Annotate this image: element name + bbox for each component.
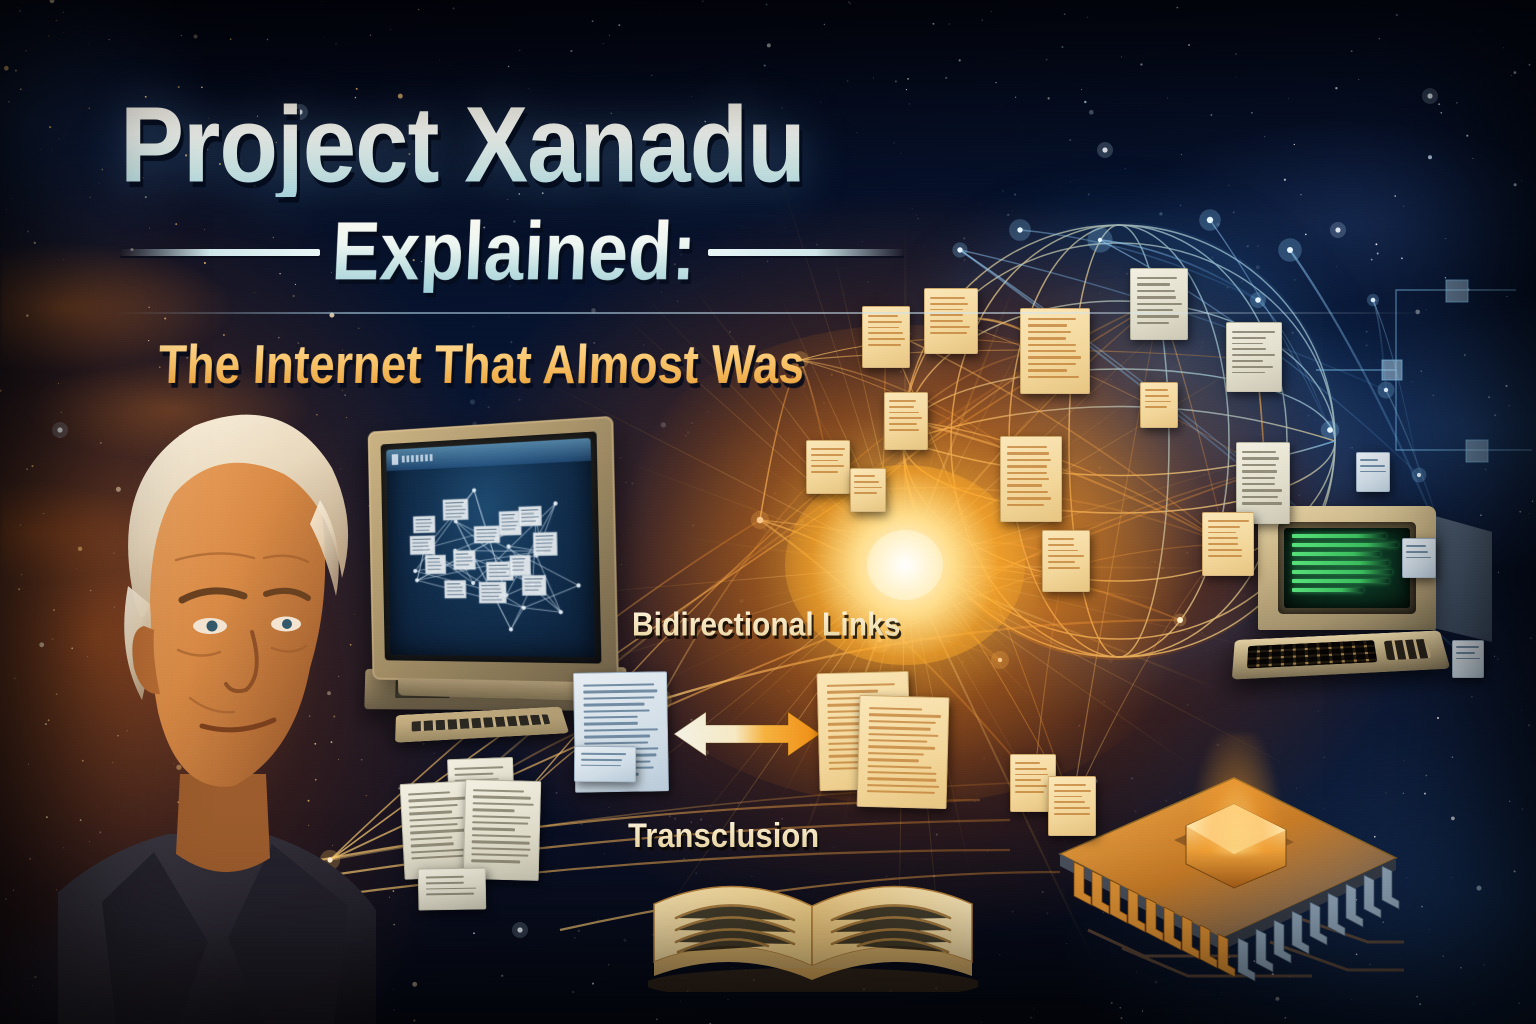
film-grain-overlay xyxy=(0,0,1536,1024)
poster-canvas: hypertext document network graph xyxy=(0,0,1536,1024)
